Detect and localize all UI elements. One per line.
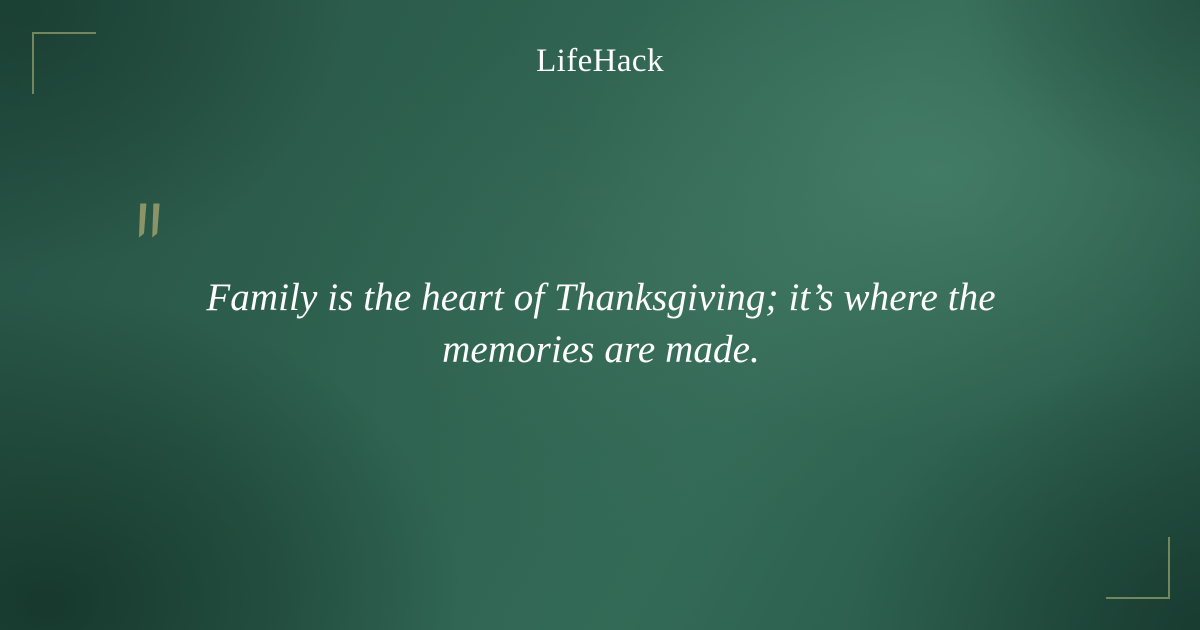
corner-bracket-bottom-right-icon	[1106, 537, 1170, 599]
quote-text: Family is the heart of Thanksgiving; it’…	[155, 272, 1047, 376]
quote-card: LifeHack Family is the heart of Thanksgi…	[0, 0, 1200, 630]
quotation-mark-icon	[134, 200, 174, 242]
brand-logo: LifeHack	[0, 40, 1200, 82]
